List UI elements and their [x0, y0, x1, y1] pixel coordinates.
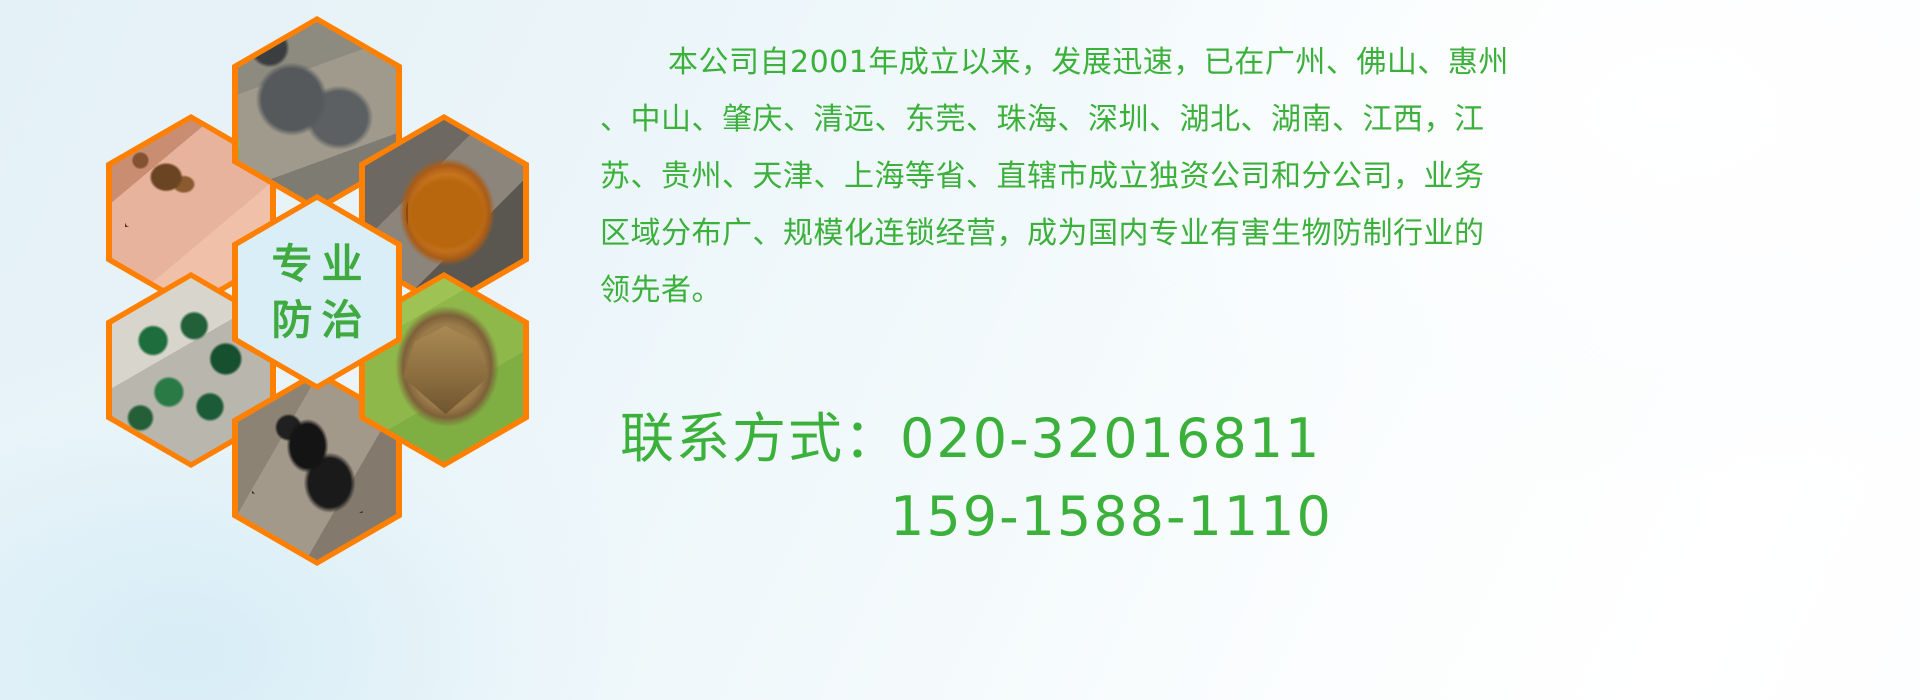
intro-line-4: 区域分布广、规模化连锁经营，成为国内专业有害生物防制行业的 [600, 205, 1890, 262]
badge-line-2: 防治 [263, 294, 372, 346]
contact-block: 联系方式：020-32016811 159-1588-1110 [620, 400, 1910, 556]
contact-secondary-line: 159-1588-1110 [620, 478, 1910, 556]
intro-line-5: 领先者。 [600, 262, 1890, 319]
badge-line-1: 专业 [263, 238, 372, 290]
hexagon-photo-cluster: 专业 防治 [72, 4, 592, 564]
intro-line-2: 、中山、肇庆、清远、东莞、珠海、深圳、湖北、湖南、江西，江 [600, 91, 1890, 148]
intro-line-3: 苏、贵州、天津、上海等省、直辖市成立独资公司和分公司，业务 [600, 148, 1890, 205]
contact-label: 联系方式： [620, 407, 900, 470]
phone-secondary[interactable]: 159-1588-1110 [890, 485, 1333, 548]
contact-primary-line: 联系方式：020-32016811 [620, 400, 1910, 478]
company-intro-paragraph: 本公司自2001年成立以来，发展迅速，已在广州、佛山、惠州 、中山、肇庆、清远、… [600, 34, 1890, 319]
banner-stage: 专业 防治 本公司自2001年成立以来，发展迅速，已在广州、佛山、惠州 、中山、… [0, 0, 1920, 700]
intro-line-1: 本公司自2001年成立以来，发展迅速，已在广州、佛山、惠州 [600, 34, 1890, 91]
phone-primary[interactable]: 020-32016811 [900, 407, 1321, 470]
center-badge-frame: 专业 防治 [238, 200, 396, 384]
